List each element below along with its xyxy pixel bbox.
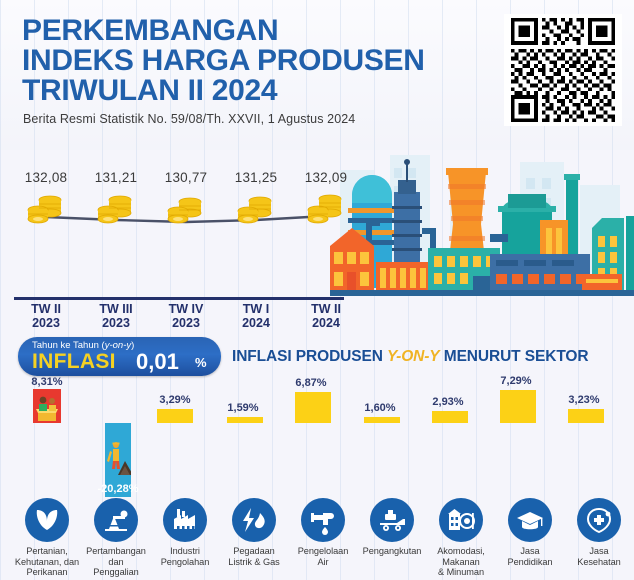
badge-label: INFLASI: [32, 350, 116, 374]
label-line: Listrik & Gas: [219, 557, 289, 568]
title-line-1: PERKEMBANGAN: [22, 16, 492, 46]
tick-year: 2024: [219, 316, 293, 330]
bar-value-label: 3,29%: [141, 394, 209, 406]
sector-section-heading: INFLASI PRODUSEN Y-ON-Y MENURUT SEKTOR: [232, 348, 588, 366]
bar-manufacturing: [157, 409, 193, 423]
label-line: Pengangkutan: [357, 546, 427, 557]
tick-year: 2024: [289, 316, 363, 330]
heading-highlight: Y-ON-Y: [387, 348, 440, 365]
bar-transport: [364, 417, 400, 423]
qr-code-icon[interactable]: [504, 14, 622, 126]
bar-accommodation: [432, 411, 468, 423]
label-line: Pengelolaan: [288, 546, 358, 557]
axis-tick-label: TW I 2024: [219, 302, 293, 330]
tick-year: 2023: [9, 316, 83, 330]
bar-education: [500, 390, 536, 423]
index-value-label: 131,25: [224, 170, 288, 185]
sector-item-transport[interactable]: Pengangkutan: [357, 498, 427, 557]
index-value-label: 132,08: [14, 170, 78, 185]
label-line: Jasa: [495, 546, 565, 557]
bar-agriculture: [33, 389, 61, 423]
page-title: PERKEMBANGAN INDEKS HARGA PRODUSEN TRIWU…: [22, 16, 492, 106]
faucet-icon: [301, 498, 345, 542]
electric-gas-icon: [232, 498, 276, 542]
transport-icon: [370, 498, 414, 542]
tick-quarter: TW I: [219, 302, 293, 316]
label-line: Pertambangan: [81, 546, 151, 557]
coin-stack-icon: [164, 190, 208, 224]
sector-bar-chart: 8,31%: [0, 376, 634, 496]
coin-stack-icon: [24, 190, 68, 224]
heading-part2: MENURUT SEKTOR: [440, 348, 589, 365]
label-line: Air: [288, 557, 358, 568]
bar-value-label: 3,23%: [550, 394, 618, 406]
coin-stack-icon: [94, 190, 138, 224]
page-subtitle: Berita Resmi Statistik No. 59/08/Th. XXV…: [23, 112, 355, 126]
sector-label: Industri Pengolahan: [150, 546, 220, 567]
index-value-label: 132,09: [294, 170, 358, 185]
sector-item-electricity-gas[interactable]: Pegadaan Listrik & Gas: [219, 498, 289, 567]
sector-label: Pertambangan dan Penggalian: [81, 546, 151, 578]
infographic-page: PERKEMBANGAN INDEKS HARGA PRODUSEN TRIWU…: [0, 0, 634, 580]
inflation-badge: Tahun ke Tahun (y-on-y) INFLASI 0,01 %: [18, 337, 221, 376]
tick-year: 2023: [149, 316, 223, 330]
label-line: Jasa: [564, 546, 634, 557]
bar-value-label: 1,59%: [209, 402, 277, 414]
sector-item-agriculture[interactable]: Pertanian, Kehutanan, dan Perikanan: [12, 498, 82, 578]
axis-tick-label: TW III 2023: [79, 302, 153, 330]
title-line-3: TRIWULAN II 2024: [22, 76, 492, 106]
label-line: Kesehatan: [564, 557, 634, 568]
tick-quarter: TW II: [9, 302, 83, 316]
sector-item-health[interactable]: Jasa Kesehatan: [564, 498, 634, 567]
tick-quarter: TW III: [79, 302, 153, 316]
label-line: Pertanian,: [12, 546, 82, 557]
hotel-food-icon: [439, 498, 483, 542]
bar-value-label: 8,31%: [13, 376, 81, 388]
sector-label: Jasa Kesehatan: [564, 546, 634, 567]
index-value-label: 130,77: [154, 170, 218, 185]
bar-value-label: 6,87%: [277, 377, 345, 389]
tick-year: 2023: [79, 316, 153, 330]
sector-item-water[interactable]: Pengelolaan Air: [288, 498, 358, 567]
coin-stack-icon: [234, 190, 278, 224]
bar-electricity-gas: [227, 417, 263, 423]
stethoscope-icon: [577, 498, 621, 542]
sector-label: Pegadaan Listrik & Gas: [219, 546, 289, 567]
label-line: & Minuman: [426, 567, 496, 578]
axis-tick-label: TW II 2024: [289, 302, 363, 330]
label-line: Industri: [150, 546, 220, 557]
tick-quarter: TW IV: [149, 302, 223, 316]
sector-label: Jasa Pendidikan: [495, 546, 565, 567]
oil-pump-icon: [94, 498, 138, 542]
factory-icon: [163, 498, 207, 542]
sector-item-mining[interactable]: Pertambangan dan Penggalian: [81, 498, 151, 578]
label-line: Perikanan: [12, 567, 82, 578]
badge-value: 0,01: [136, 349, 179, 375]
graduation-cap-icon: [508, 498, 552, 542]
sector-label: Pertanian, Kehutanan, dan Perikanan: [12, 546, 82, 578]
index-value-label: 131,21: [84, 170, 148, 185]
qr-code-svg: [504, 14, 622, 126]
label-line: Makanan: [426, 557, 496, 568]
leaf-icon: [25, 498, 69, 542]
bar-value-label: 2,93%: [414, 396, 482, 408]
sector-item-education[interactable]: Jasa Pendidikan: [495, 498, 565, 567]
bar-water: [295, 392, 331, 423]
axis-tick-label: TW IV 2023: [149, 302, 223, 330]
sector-item-accommodation[interactable]: Akomodasi, Makanan & Minuman: [426, 498, 496, 578]
sector-item-manufacturing[interactable]: Industri Pengolahan: [150, 498, 220, 567]
heading-part1: INFLASI PRODUSEN: [232, 348, 387, 365]
label-line: Kehutanan, dan: [12, 557, 82, 568]
label-line: Penggalian: [81, 567, 151, 578]
sector-label: Pengelolaan Air: [288, 546, 358, 567]
bar-value-label: 1,60%: [346, 402, 414, 414]
axis-tick-label: TW II 2023: [9, 302, 83, 330]
bar-value-label: -20,28%: [84, 483, 152, 495]
label-line: Akomodasi,: [426, 546, 496, 557]
title-line-2: INDEKS HARGA PRODUSEN: [22, 46, 492, 76]
coin-stack-icon: [304, 190, 348, 224]
label-line: dan: [81, 557, 151, 568]
label-line: Pegadaan: [219, 546, 289, 557]
sector-label: Pengangkutan: [357, 546, 427, 557]
badge-caption-close: ): [131, 340, 134, 351]
chart-axis-line: [14, 297, 344, 300]
label-line: Pengolahan: [150, 557, 220, 568]
bar-health: [568, 409, 604, 423]
label-line: Pendidikan: [495, 557, 565, 568]
tick-quarter: TW II: [289, 302, 363, 316]
sector-label: Akomodasi, Makanan & Minuman: [426, 546, 496, 578]
badge-unit: %: [195, 355, 207, 370]
bar-value-label: 7,29%: [482, 375, 550, 387]
